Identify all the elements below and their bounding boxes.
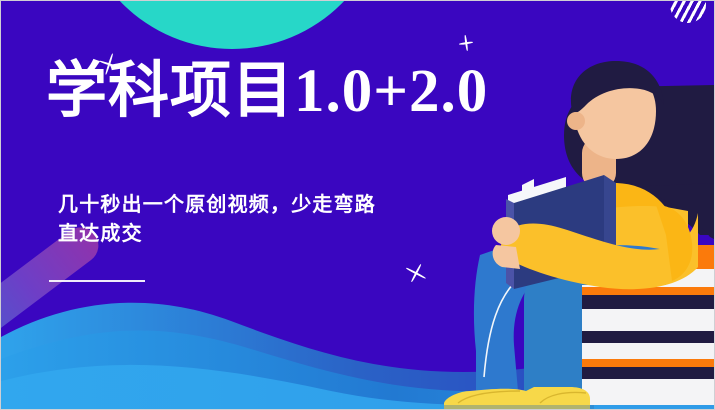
- subtitle-line-2: 直达成交: [58, 220, 528, 249]
- title-underline: [49, 280, 145, 282]
- poster-subtitle: 几十秒出一个原创视频，少走弯路 直达成交: [58, 191, 528, 249]
- text-content: 学科项目1.0+2.0: [46, 56, 606, 128]
- teal-arc-shape: [77, 1, 387, 49]
- page-title: 学科项目1.0+2.0: [46, 56, 606, 128]
- subtitle-line-1: 几十秒出一个原创视频，少走弯路: [58, 191, 528, 220]
- promo-poster: 学科项目1.0+2.0 几十秒出一个原创视频，少走弯路 直达成交: [0, 0, 715, 410]
